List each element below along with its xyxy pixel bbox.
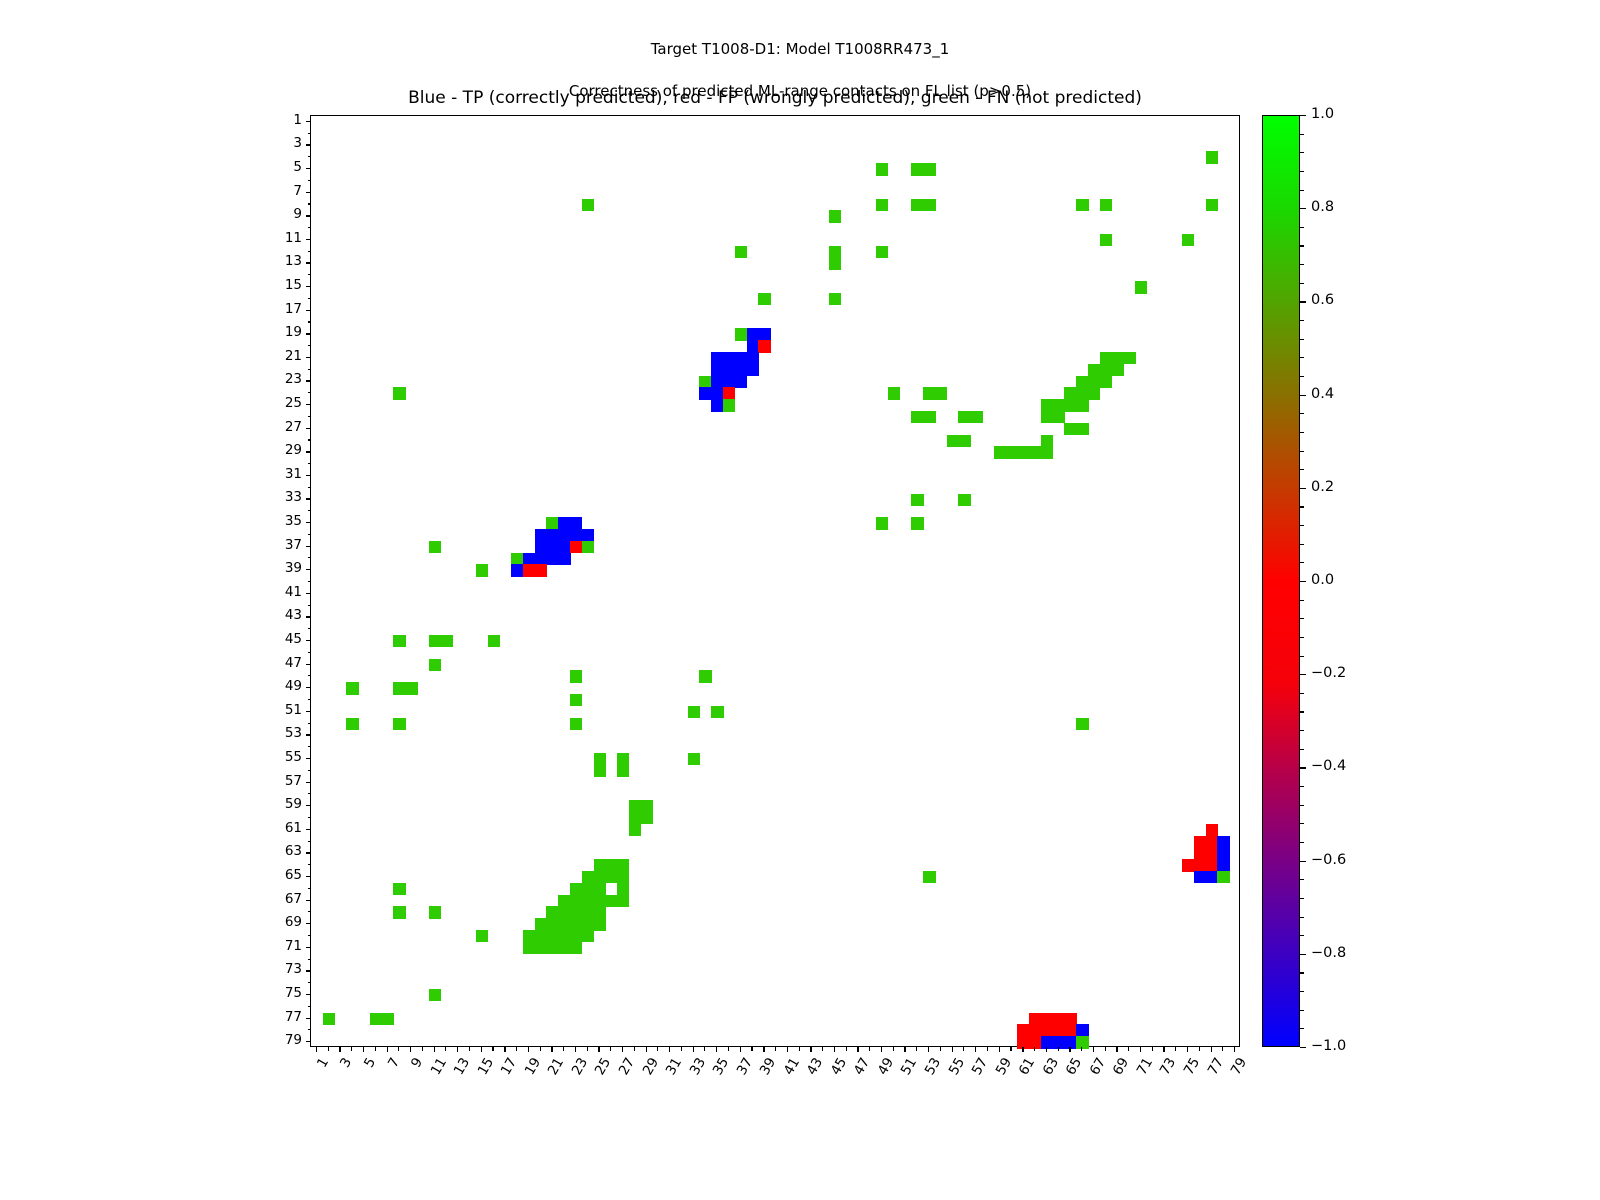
y-tick-mark (306, 947, 311, 948)
contact-cell-fn (570, 694, 582, 706)
x-tick-mark (763, 1047, 764, 1052)
contact-cell-fn (876, 163, 888, 175)
contact-cell-fp (758, 340, 770, 352)
contact-cell-fp (1029, 1036, 1041, 1048)
x-tick-mark (799, 1047, 800, 1051)
y-tick-mark (306, 522, 311, 523)
contact-cell-tp (747, 340, 759, 352)
contact-cell-fn (1076, 387, 1088, 399)
contact-cell-fp (1017, 1024, 1029, 1036)
y-tick-label: 5 (262, 161, 302, 175)
x-tick-mark (1152, 1047, 1153, 1051)
colorbar-tick-mark (1300, 1047, 1306, 1048)
colorbar-tick-label: −1.0 (1311, 1039, 1346, 1054)
colorbar-minor-tick (1300, 656, 1304, 657)
y-tick-label: 45 (262, 633, 302, 647)
contact-cell-fp (1194, 847, 1206, 859)
contact-cell-fn (582, 906, 594, 918)
x-tick-mark (740, 1047, 741, 1052)
y-tick-mark (308, 180, 312, 181)
colorbar-tick-label: 0.0 (1311, 573, 1334, 588)
contact-cell-tp (1217, 859, 1229, 871)
contact-cell-fn (382, 1013, 394, 1025)
contact-cell-fn (876, 246, 888, 258)
x-tick-mark (1022, 1047, 1023, 1052)
contact-cell-fn (629, 800, 641, 812)
colorbar-minor-tick (1300, 283, 1304, 284)
y-tick-mark (308, 888, 312, 889)
x-tick-mark (704, 1047, 705, 1051)
contact-cell-fn (1088, 387, 1100, 399)
y-tick-mark (308, 463, 312, 464)
x-tick-mark (787, 1047, 788, 1052)
x-tick-mark (775, 1047, 776, 1051)
contact-cell-tp (735, 376, 747, 388)
contact-cell-fn (1053, 399, 1065, 411)
y-tick-mark (308, 156, 312, 157)
y-tick-mark (306, 451, 311, 452)
contact-cell-fn (582, 871, 594, 883)
contact-cell-tp (523, 553, 535, 565)
colorbar-tick-mark (1300, 488, 1306, 489)
colorbar-minor-tick (1300, 432, 1304, 433)
contact-cell-fn (876, 199, 888, 211)
x-tick-mark (669, 1047, 670, 1052)
x-tick-mark (904, 1047, 905, 1052)
contact-cell-fn (911, 494, 923, 506)
contact-cell-fn (617, 871, 629, 883)
x-tick-mark (363, 1047, 364, 1052)
y-tick-mark (306, 805, 311, 806)
contact-cell-fn (617, 895, 629, 907)
contact-cell-fn (594, 765, 606, 777)
axes-title-legend: Blue - TP (correctly predicted), red - F… (310, 88, 1240, 108)
contact-cell-fn (829, 258, 841, 270)
contact-cell-fp (1041, 1024, 1053, 1036)
colorbar-minor-tick (1300, 339, 1304, 340)
colorbar-tick-label: −0.4 (1311, 759, 1346, 774)
contact-cell-fn (535, 930, 547, 942)
y-tick-label: 9 (262, 208, 302, 222)
contact-cell-fn (323, 1013, 335, 1025)
colorbar-minor-tick (1300, 152, 1304, 153)
contact-cell-fn (546, 906, 558, 918)
x-tick-mark (1034, 1047, 1035, 1051)
x-tick-mark (1140, 1047, 1141, 1052)
colorbar-minor-tick (1300, 637, 1304, 638)
contact-cell-tp (511, 564, 523, 576)
colorbar-minor-tick (1300, 320, 1304, 321)
contact-cell-fn (829, 293, 841, 305)
y-tick-label: 51 (262, 704, 302, 718)
contact-cell-tp (747, 328, 759, 340)
x-tick-mark (1116, 1047, 1117, 1052)
y-tick-mark (306, 758, 311, 759)
x-tick-mark (987, 1047, 988, 1051)
y-tick-mark (308, 982, 312, 983)
contact-cell-fn (488, 635, 500, 647)
y-tick-mark (306, 498, 311, 499)
y-tick-mark (306, 569, 311, 570)
y-tick-mark (306, 734, 311, 735)
y-tick-mark (308, 864, 312, 865)
contact-cell-fn (594, 753, 606, 765)
contact-cell-tp (582, 529, 594, 541)
x-tick-mark (434, 1047, 435, 1052)
contact-cell-fn (570, 718, 582, 730)
contact-cell-fn (582, 883, 594, 895)
y-tick-label: 67 (262, 893, 302, 907)
contact-cell-fp (1206, 847, 1218, 859)
contact-cell-fn (546, 517, 558, 529)
contact-cell-fn (582, 918, 594, 930)
contact-cell-fn (1100, 352, 1112, 364)
y-tick-mark (306, 616, 311, 617)
colorbar-minor-tick (1300, 413, 1304, 414)
contact-cell-fp (1206, 824, 1218, 836)
contact-cell-tp (546, 541, 558, 553)
x-tick-mark (646, 1047, 647, 1052)
contact-cell-tp (723, 376, 735, 388)
y-tick-mark (308, 841, 312, 842)
colorbar-minor-tick (1300, 711, 1304, 712)
y-tick-mark (306, 687, 311, 688)
contact-cell-fn (1112, 364, 1124, 376)
colorbar-tick-mark (1300, 395, 1306, 396)
contact-cell-fn (582, 895, 594, 907)
contact-cell-fn (629, 812, 641, 824)
contact-cell-fn (429, 989, 441, 1001)
contact-cell-fn (923, 387, 935, 399)
x-tick-mark (1234, 1047, 1235, 1052)
contact-cell-fn (958, 435, 970, 447)
colorbar-minor-tick (1300, 171, 1304, 172)
y-tick-mark (308, 793, 312, 794)
contact-cell-fn (370, 1013, 382, 1025)
contact-cell-fn (558, 906, 570, 918)
contact-cell-fn (605, 859, 617, 871)
colorbar-tick-mark (1300, 208, 1306, 209)
y-tick-mark (308, 723, 312, 724)
contact-cell-fn (1064, 387, 1076, 399)
y-tick-mark (308, 227, 312, 228)
y-tick-mark (306, 262, 311, 263)
colorbar-minor-tick (1300, 227, 1304, 228)
contact-cell-fn (1041, 399, 1053, 411)
x-tick-mark (1211, 1047, 1212, 1052)
colorbar-minor-tick (1300, 1028, 1304, 1029)
colorbar-minor-tick (1300, 134, 1304, 135)
contact-cell-fn (958, 411, 970, 423)
y-tick-mark (306, 428, 311, 429)
x-tick-mark (516, 1047, 517, 1051)
y-tick-label: 53 (262, 727, 302, 741)
colorbar-minor-tick (1300, 469, 1304, 470)
contact-cell-fp (1206, 859, 1218, 871)
contact-cell-fn (1053, 411, 1065, 423)
contact-cell-tp (1206, 871, 1218, 883)
x-tick-mark (681, 1047, 682, 1051)
contact-cell-fp (1194, 859, 1206, 871)
contact-cell-tp (558, 553, 570, 565)
y-tick-label: 31 (262, 468, 302, 482)
contact-cell-fn (911, 163, 923, 175)
contact-cell-fp (1053, 1024, 1065, 1036)
contact-cell-fn (935, 387, 947, 399)
contact-cell-fn (1041, 411, 1053, 423)
contact-cell-fn (1076, 376, 1088, 388)
x-tick-mark (598, 1047, 599, 1052)
x-tick-mark (1010, 1047, 1011, 1051)
x-tick-mark (834, 1047, 835, 1052)
contact-cell-tp (735, 352, 747, 364)
contact-cell-fn (617, 753, 629, 765)
x-tick-mark (1058, 1047, 1059, 1051)
contact-cell-fn (570, 918, 582, 930)
colorbar-minor-tick (1300, 190, 1304, 191)
contact-cell-fp (1053, 1013, 1065, 1025)
y-tick-mark (308, 605, 312, 606)
colorbar-minor-tick (1300, 749, 1304, 750)
x-tick-mark (551, 1047, 552, 1052)
contact-cell-fn (570, 883, 582, 895)
y-tick-label: 13 (262, 255, 302, 269)
x-tick-mark (1187, 1047, 1188, 1052)
y-tick-label: 59 (262, 798, 302, 812)
contact-cell-fn (346, 718, 358, 730)
y-tick-mark (306, 380, 311, 381)
y-tick-mark (308, 628, 312, 629)
y-tick-mark (306, 404, 311, 405)
contact-cell-fn (582, 541, 594, 553)
y-tick-label: 65 (262, 869, 302, 883)
y-tick-mark (306, 923, 311, 924)
y-tick-label: 35 (262, 515, 302, 529)
contact-cell-fn (523, 942, 535, 954)
contact-cell-tp (723, 364, 735, 376)
colorbar-minor-tick (1300, 879, 1304, 880)
x-tick-mark (928, 1047, 929, 1052)
y-tick-label: 23 (262, 373, 302, 387)
y-tick-mark (308, 817, 312, 818)
contact-cell-fn (429, 659, 441, 671)
contact-cell-fn (594, 859, 606, 871)
x-tick-mark (481, 1047, 482, 1052)
y-tick-label: 63 (262, 845, 302, 859)
x-tick-mark (952, 1047, 953, 1052)
colorbar-minor-tick (1300, 786, 1304, 787)
y-tick-label: 17 (262, 303, 302, 317)
colorbar-tick-mark (1300, 861, 1306, 862)
contact-cell-fn (641, 812, 653, 824)
y-tick-label: 7 (262, 185, 302, 199)
contact-cell-fn (1182, 234, 1194, 246)
y-tick-label: 27 (262, 421, 302, 435)
y-tick-mark (308, 699, 312, 700)
contact-cell-fp (535, 564, 547, 576)
contact-cell-fn (970, 411, 982, 423)
contact-cell-fn (594, 871, 606, 883)
x-tick-mark (1093, 1047, 1094, 1052)
contact-cell-tp (558, 529, 570, 541)
x-tick-mark (469, 1047, 470, 1051)
contact-cell-fn (405, 682, 417, 694)
y-tick-mark (306, 121, 311, 122)
contact-cell-fn (1088, 364, 1100, 376)
y-tick-mark (306, 357, 311, 358)
x-tick-mark (387, 1047, 388, 1052)
x-tick-mark (846, 1047, 847, 1051)
x-tick-mark (398, 1047, 399, 1051)
contact-cell-tp (1194, 871, 1206, 883)
contact-cell-fn (558, 918, 570, 930)
y-tick-label: 19 (262, 326, 302, 340)
y-tick-label: 79 (262, 1034, 302, 1048)
contact-cell-fn (393, 387, 405, 399)
contact-cell-tp (747, 352, 759, 364)
contact-cell-fn (393, 682, 405, 694)
contact-cell-fn (876, 517, 888, 529)
colorbar-tick-label: 0.8 (1311, 200, 1334, 215)
colorbar-tick-label: −0.2 (1311, 666, 1346, 681)
contact-cell-fn (1100, 364, 1112, 376)
contact-cell-fn (582, 199, 594, 211)
contact-cell-fn (346, 682, 358, 694)
contact-cell-fn (1123, 352, 1135, 364)
y-tick-mark (308, 274, 312, 275)
y-tick-mark (308, 416, 312, 417)
y-tick-mark (308, 251, 312, 252)
x-tick-mark (492, 1047, 493, 1051)
y-tick-mark (308, 203, 312, 204)
y-tick-mark (308, 298, 312, 299)
y-tick-mark (308, 1006, 312, 1007)
contact-cell-fp (1064, 1013, 1076, 1025)
contact-cell-fn (711, 706, 723, 718)
x-tick-mark (975, 1047, 976, 1052)
contact-cell-fp (1029, 1013, 1041, 1025)
colorbar-minor-tick (1300, 730, 1304, 731)
contact-cell-fn (535, 942, 547, 954)
contact-cell-fn (829, 246, 841, 258)
colorbar-tick-mark (1300, 301, 1306, 302)
y-tick-mark (308, 133, 312, 134)
contact-cell-fn (923, 411, 935, 423)
contact-cell-fn (605, 895, 617, 907)
contact-cell-tp (535, 553, 547, 565)
y-tick-mark (308, 392, 312, 393)
x-tick-mark (528, 1047, 529, 1052)
contact-cell-fn (758, 293, 770, 305)
contact-cell-fn (923, 199, 935, 211)
contact-cell-fn (688, 753, 700, 765)
contact-cell-fn (1006, 446, 1018, 458)
contact-cell-fn (558, 942, 570, 954)
contact-cell-tp (711, 364, 723, 376)
contact-cell-fp (723, 387, 735, 399)
contact-cell-fn (723, 399, 735, 411)
colorbar-tick-mark (1300, 954, 1306, 955)
y-tick-mark (308, 746, 312, 747)
contact-cell-fn (594, 895, 606, 907)
contact-cell-tp (558, 517, 570, 529)
y-tick-mark (306, 829, 311, 830)
contact-cell-tp (735, 364, 747, 376)
y-tick-mark (306, 546, 311, 547)
contact-cell-fn (570, 895, 582, 907)
y-tick-mark (306, 239, 311, 240)
colorbar-minor-tick (1300, 935, 1304, 936)
x-tick-mark (422, 1047, 423, 1051)
contact-cell-fn (1076, 399, 1088, 411)
x-tick-mark (587, 1047, 588, 1051)
contact-cell-tp (747, 364, 759, 376)
contact-cell-fp (1182, 859, 1194, 871)
x-tick-mark (1046, 1047, 1047, 1052)
contact-cell-fn (570, 930, 582, 942)
contact-cell-fn (617, 883, 629, 895)
contact-cell-fn (594, 918, 606, 930)
y-tick-label: 61 (262, 822, 302, 836)
y-tick-mark (306, 310, 311, 311)
contact-cell-fn (641, 800, 653, 812)
x-tick-mark (1069, 1047, 1070, 1052)
contact-cell-fn (546, 942, 558, 954)
y-tick-label: 55 (262, 751, 302, 765)
contact-map-cells (311, 116, 1239, 1046)
contact-cell-fn (1017, 446, 1029, 458)
contact-cell-fp (1041, 1013, 1053, 1025)
y-tick-label: 29 (262, 444, 302, 458)
contact-cell-fn (911, 517, 923, 529)
contact-cell-fn (594, 906, 606, 918)
x-tick-mark (445, 1047, 446, 1051)
y-tick-label: 47 (262, 657, 302, 671)
suptitle-line-1: Target T1008-D1: Model T1008RR473_1 (0, 39, 1600, 60)
y-tick-mark (308, 345, 312, 346)
contact-cell-fn (958, 494, 970, 506)
y-tick-mark (308, 935, 312, 936)
colorbar-minor-tick (1300, 562, 1304, 563)
contact-cell-fn (699, 376, 711, 388)
x-tick-mark (657, 1047, 658, 1051)
contact-cell-fn (393, 635, 405, 647)
contact-cell-fn (1076, 423, 1088, 435)
x-tick-mark (716, 1047, 717, 1052)
x-tick-mark (457, 1047, 458, 1052)
y-tick-label: 49 (262, 680, 302, 694)
y-tick-label: 69 (262, 916, 302, 930)
y-tick-mark (306, 876, 311, 877)
y-tick-mark (308, 487, 312, 488)
contact-cell-fn (429, 906, 441, 918)
colorbar-minor-tick (1300, 693, 1304, 694)
x-tick-mark (563, 1047, 564, 1051)
colorbar-tick-mark (1300, 115, 1306, 116)
x-tick-mark (940, 1047, 941, 1051)
colorbar-minor-tick (1300, 357, 1304, 358)
contact-cell-fn (429, 541, 441, 553)
x-tick-mark (316, 1047, 317, 1052)
contact-cell-fn (994, 446, 1006, 458)
colorbar-tick-mark (1300, 674, 1306, 675)
y-tick-mark (306, 475, 311, 476)
y-tick-label: 39 (262, 562, 302, 576)
contact-cell-tp (723, 352, 735, 364)
contact-cell-fp (1206, 836, 1218, 848)
y-tick-mark (306, 782, 311, 783)
colorbar-gradient (1262, 115, 1300, 1047)
